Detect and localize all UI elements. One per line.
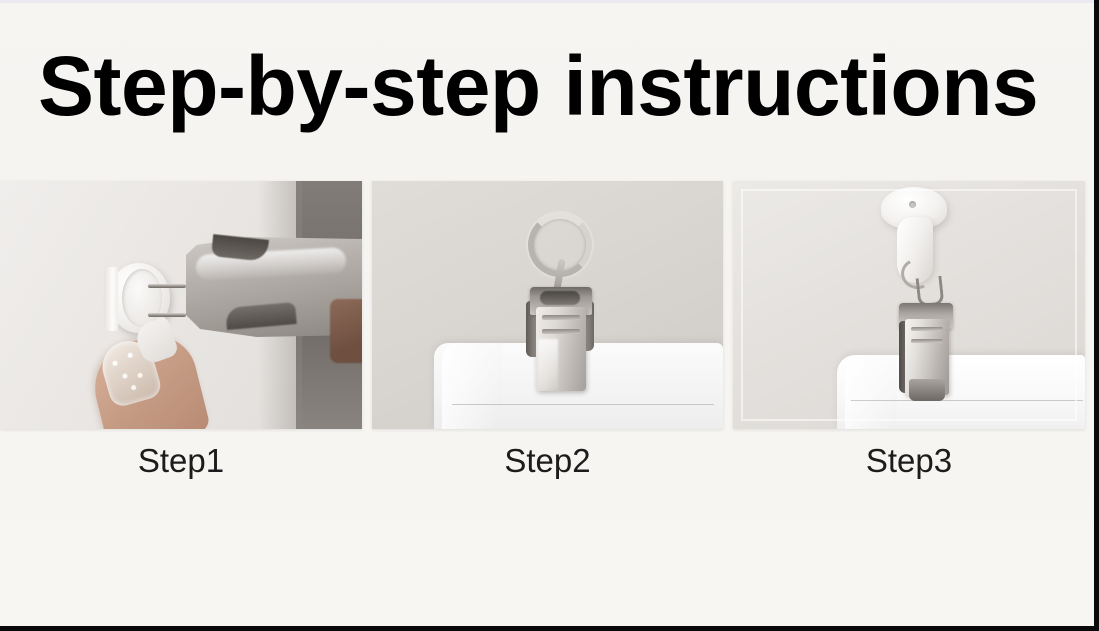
clip-highlight: [538, 339, 558, 389]
step-image-row: [0, 181, 1099, 429]
step-image-3: [733, 181, 1085, 429]
right-edge-border: [1094, 0, 1099, 631]
hammer-handle: [330, 299, 362, 363]
bottom-edge-border: [0, 626, 1099, 631]
photo-inner-frame: [741, 189, 1077, 421]
clip-slot-lower: [542, 329, 580, 334]
step-image-1: [0, 181, 362, 429]
hook-base-lip: [104, 267, 118, 331]
step-image-2: [372, 181, 723, 429]
top-divider-line: [0, 0, 1099, 3]
step-label-1: Step1: [0, 438, 362, 484]
step-label-3: Step3: [733, 438, 1085, 484]
step-label-2: Step2: [372, 438, 723, 484]
curtain-fold: [442, 343, 502, 429]
clip-slot-upper: [542, 315, 580, 320]
instruction-infographic: Step-by-step instructions: [0, 0, 1099, 631]
hook-base-disc-inner: [122, 269, 162, 327]
step-2-scene: [372, 181, 723, 429]
hook-pin-lower: [148, 313, 186, 317]
step-3-scene: [733, 181, 1085, 429]
hook-pin-upper: [148, 284, 186, 288]
page-title: Step-by-step instructions: [38, 38, 1060, 134]
curtain-seam: [452, 404, 714, 405]
clip-spring: [540, 291, 580, 305]
step-1-scene: [0, 181, 362, 429]
step-caption-row: Step1 Step2 Step3: [0, 438, 1099, 484]
